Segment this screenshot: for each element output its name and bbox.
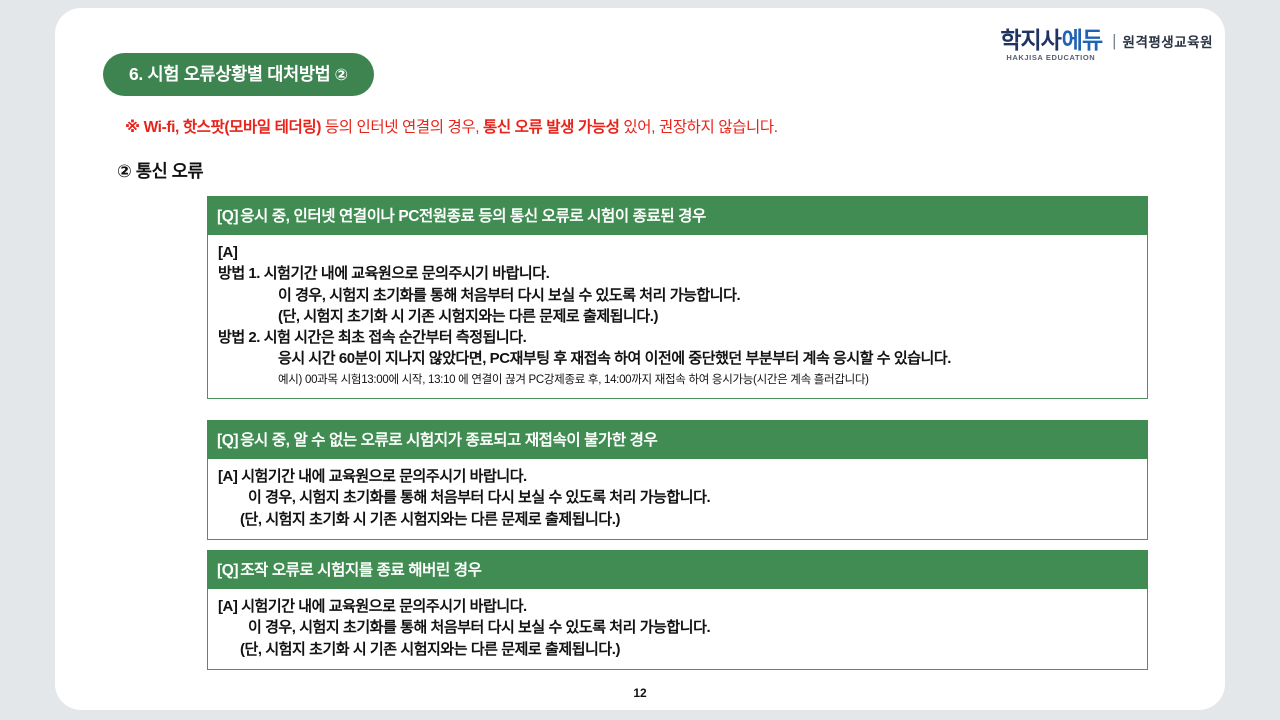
page-title: 6. 시험 오류상황별 대처방법② — [103, 53, 374, 96]
page-title-circled-number: ② — [334, 67, 347, 84]
slide-card: 학지사 에듀 HAKJISA EDUCATION | 원격평생교육원 6. 시험… — [55, 8, 1225, 710]
question-tag: [Q] — [217, 562, 238, 579]
answer-line: [A] — [218, 242, 1147, 263]
answer-line: 이 경우, 시험지 초기화를 통해 처음부터 다시 보실 수 있도록 처리 가능… — [218, 487, 1147, 508]
qa-block: [Q]응시 중, 알 수 없는 오류로 시험지가 종료되고 재접속이 불가한 경… — [207, 420, 1148, 540]
notice-tail-part: 있어, 권장하지 않습니다. — [620, 119, 778, 136]
answer-line: 응시 시간 60분이 지나지 않았다면, PC재부팅 후 재접속 하여 이전에 … — [218, 348, 1147, 369]
qa-block: [Q]응시 중, 인터넷 연결이나 PC전원종료 등의 통신 오류로 시험이 종… — [207, 196, 1148, 399]
page-title-text: 6. 시험 오류상황별 대처방법 — [129, 64, 330, 84]
section-heading: ② 통신 오류 — [117, 158, 203, 183]
answer-line: 방법 2. 시험 시간은 최초 접속 순간부터 측정됩니다. — [218, 327, 1147, 348]
qa-question-header: [Q]조작 오류로 시험지를 종료 해버린 경우 — [207, 550, 1148, 589]
answer-line: 방법 1. 시험기간 내에 교육원으로 문의주시기 바랍니다. — [218, 263, 1147, 284]
answer-example-line: 예시) 00과목 시험13:00에 시작, 13:10 에 연결이 끊겨 PC강… — [218, 370, 1147, 389]
brand-logo: 학지사 에듀 HAKJISA EDUCATION | 원격평생교육원 — [1000, 18, 1213, 52]
answer-line: 이 경우, 시험지 초기화를 통해 처음부터 다시 보실 수 있도록 처리 가능… — [218, 617, 1147, 638]
notice-bold-part: ※ Wi-fi, 핫스팟(모바일 테더링) — [125, 119, 321, 136]
logo-subtitle: 원격평생교육원 — [1123, 31, 1213, 51]
answer-line: 이 경우, 시험지 초기화를 통해 처음부터 다시 보실 수 있도록 처리 가능… — [218, 285, 1147, 306]
logo-wordmark: 학지사 에듀 HAKJISA EDUCATION — [1000, 29, 1102, 52]
question-tag: [Q] — [217, 432, 238, 449]
qa-question-header: [Q]응시 중, 인터넷 연결이나 PC전원종료 등의 통신 오류로 시험이 종… — [207, 196, 1148, 235]
question-tag: [Q] — [217, 208, 238, 225]
answer-line: [A] 시험기간 내에 교육원으로 문의주시기 바랍니다. — [218, 596, 1147, 617]
qa-question-header: [Q]응시 중, 알 수 없는 오류로 시험지가 종료되고 재접속이 불가한 경… — [207, 420, 1148, 459]
logo-edu-text: 에듀 — [1062, 29, 1102, 52]
qa-answer-body: [A] 방법 1. 시험기간 내에 교육원으로 문의주시기 바랍니다. 이 경우… — [207, 235, 1148, 399]
answer-line: [A] 시험기간 내에 교육원으로 문의주시기 바랍니다. — [218, 466, 1147, 487]
logo-hakjisa-text: 학지사 — [1000, 29, 1060, 52]
page-number: 12 — [55, 686, 1225, 700]
answer-line: (단, 시험지 초기화 시 기존 시험지와는 다른 문제로 출제됩니다.) — [218, 306, 1147, 327]
qa-answer-body: [A] 시험기간 내에 교육원으로 문의주시기 바랍니다. 이 경우, 시험지 … — [207, 589, 1148, 670]
logo-divider: | — [1112, 31, 1116, 51]
question-text: 응시 중, 알 수 없는 오류로 시험지가 종료되고 재접속이 불가한 경우 — [240, 432, 657, 449]
answer-line: (단, 시험지 초기화 시 기존 시험지와는 다른 문제로 출제됩니다.) — [218, 509, 1147, 530]
notice-red-bold-part: 통신 오류 발생 가능성 — [483, 119, 619, 136]
notice-mid-part: 등의 인터넷 연결의 경우, — [321, 119, 483, 136]
qa-block: [Q]조작 오류로 시험지를 종료 해버린 경우 [A] 시험기간 내에 교육원… — [207, 550, 1148, 670]
question-text: 조작 오류로 시험지를 종료 해버린 경우 — [240, 562, 481, 579]
question-text: 응시 중, 인터넷 연결이나 PC전원종료 등의 통신 오류로 시험이 종료된 … — [240, 208, 706, 225]
notice-line: ※ Wi-fi, 핫스팟(모바일 테더링) 등의 인터넷 연결의 경우, 통신 … — [125, 115, 778, 137]
answer-line: (단, 시험지 초기화 시 기존 시험지와는 다른 문제로 출제됩니다.) — [218, 639, 1147, 660]
logo-roman-text: HAKJISA EDUCATION — [1006, 54, 1095, 62]
qa-answer-body: [A] 시험기간 내에 교육원으로 문의주시기 바랍니다. 이 경우, 시험지 … — [207, 459, 1148, 540]
